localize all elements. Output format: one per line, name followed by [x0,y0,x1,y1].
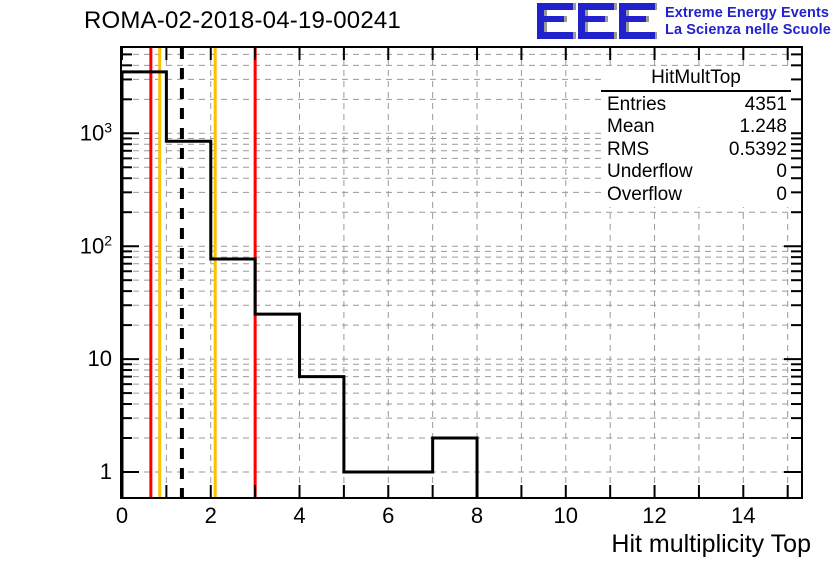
stats-value: 0 [776,162,787,181]
stats-row: Underflow0 [601,162,791,185]
x-tick-label-7: 14 [731,503,755,529]
stats-row: Overflow0 [601,185,791,208]
stats-label: Overflow [607,185,682,204]
stats-box: HitMultTop Entries4351Mean1.248RMS0.5392… [601,66,791,207]
x-tick-label-6: 12 [642,503,666,529]
page-title: ROMA-02-2018-04-19-00241 [84,7,401,35]
x-axis-title: Hit multiplicity Top [611,530,811,559]
logo-line-2: La Scienza nelle Scuole [665,22,831,38]
y-tick-label-2: 102 [80,233,112,260]
stats-value: 1.248 [739,117,787,136]
x-tick-label-4: 8 [471,503,483,529]
stats-value: 0 [776,185,787,204]
stats-row: Mean1.248 [601,117,791,140]
eee-logo: Extreme Energy Events La Scienza nelle S… [537,2,833,42]
x-axis-labels: 02468101214 [120,503,803,533]
x-tick-label-3: 6 [382,503,394,529]
histogram-page: ROMA-02-2018-04-19-00241 Extreme Energy … [0,0,836,572]
eee-letters-icon [537,3,657,39]
x-tick-label-1: 2 [205,503,217,529]
y-tick-label-3: 103 [80,120,112,147]
x-tick-label-0: 0 [116,503,128,529]
x-tick-label-2: 4 [293,503,305,529]
stats-label: Underflow [607,162,693,181]
y-tick-label-1: 10 [88,346,112,372]
stats-label: Mean [607,117,655,136]
x-tick-label-5: 10 [554,503,578,529]
stats-row: RMS0.5392 [601,140,791,163]
stats-value: 4351 [745,95,787,114]
stats-label: RMS [607,140,649,159]
y-axis-labels: 110102103 [48,46,112,499]
stats-value: 0.5392 [729,140,787,159]
stats-label: Entries [607,95,666,114]
stats-row: Entries4351 [601,95,791,118]
y-tick-label-0: 1 [100,459,112,485]
stats-title: HitMultTop [601,68,791,92]
logo-line-1: Extreme Energy Events [665,5,829,21]
